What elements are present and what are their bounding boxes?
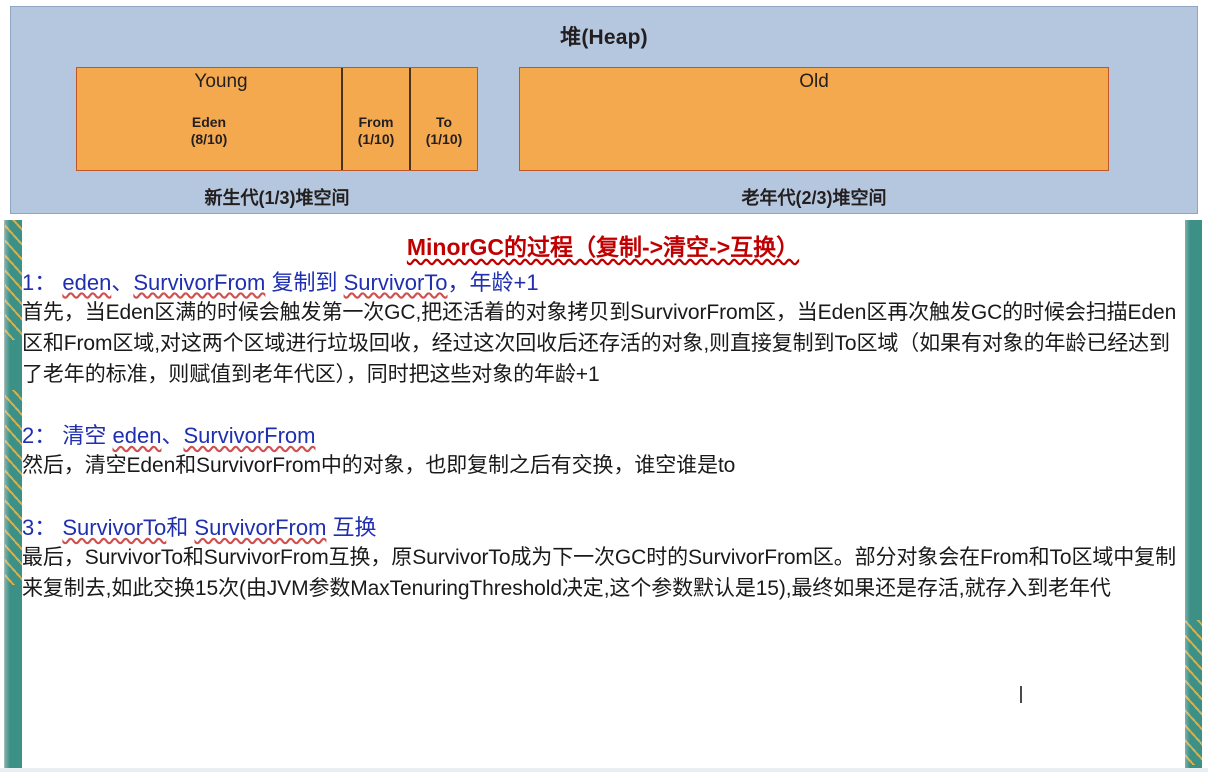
section-2: 2： 清空 eden、SurvivorFrom 然后，清空Eden和Surviv…	[22, 420, 1184, 482]
section-1-term-survivorfrom: SurvivorFrom	[133, 270, 265, 295]
section-3-conjunction: 和	[166, 515, 194, 540]
section-1-mid-text: 复制到	[265, 270, 343, 295]
text-cursor	[1020, 686, 1022, 703]
young-generation-group: Young Eden (8/10) From (1/10) To	[76, 67, 478, 210]
section-2-term-survivorfrom: SurvivorFrom	[183, 423, 315, 448]
left-band-highlight	[5, 220, 10, 772]
section-2-paragraph: 然后，清空Eden和SurvivorFrom中的对象，也即复制之后有交换，谁空谁…	[22, 451, 1184, 482]
heap-title: 堆(Heap)	[11, 21, 1197, 51]
eden-name: Eden	[191, 114, 228, 131]
from-fraction: (1/10)	[358, 131, 395, 148]
article-title: MinorGC的过程（复制->清空->互换）	[22, 232, 1184, 263]
heap-diagram: 堆(Heap) Young Eden (8/10) From (1/10)	[10, 6, 1198, 214]
section-3-number: 3：	[22, 515, 56, 540]
section-3-tail-text: 互换	[326, 515, 376, 540]
old-generation-group: Old 老年代(2/3)堆空间	[519, 67, 1109, 210]
section-2-number: 2：	[22, 423, 56, 448]
section-3-term-survivorto: SurvivorTo	[62, 515, 166, 540]
section-1: 1： eden、SurvivorFrom 复制到 SurvivorTo，年龄+1…	[22, 267, 1184, 390]
old-memory-box: Old	[519, 67, 1109, 171]
section-1-tail-text: ，年龄+1	[448, 270, 539, 295]
section-1-number: 1：	[22, 270, 56, 295]
article-content: MinorGC的过程（复制->清空->互换） 1： eden、SurvivorF…	[22, 222, 1184, 770]
section-2-heading: 2： 清空 eden、SurvivorFrom	[22, 420, 1184, 451]
young-memory-box: Young Eden (8/10) From (1/10) To	[76, 67, 478, 171]
section-3-heading: 3： SurvivorTo和 SurvivorFrom 互换	[22, 512, 1184, 543]
young-generation-caption: 新生代(1/3)堆空间	[76, 184, 478, 210]
section-2-separator: 、	[161, 423, 183, 448]
to-fraction: (1/10)	[426, 131, 463, 148]
document-page: 堆(Heap) Young Eden (8/10) From (1/10)	[0, 0, 1208, 772]
spacer-after-section-2	[22, 482, 1184, 512]
section-2-term-eden: eden	[113, 423, 162, 448]
old-label: Old	[520, 71, 1108, 93]
section-3: 3： SurvivorTo和 SurvivorFrom 互换 最后，Surviv…	[22, 512, 1184, 605]
left-decorative-band	[4, 220, 22, 772]
to-name: To	[426, 114, 463, 131]
to-survivor-segment: To (1/10)	[409, 68, 477, 170]
bottom-strip	[0, 768, 1208, 772]
section-1-separator: 、	[111, 270, 133, 295]
section-1-heading: 1： eden、SurvivorFrom 复制到 SurvivorTo，年龄+1	[22, 267, 1184, 298]
old-generation-caption: 老年代(2/3)堆空间	[519, 184, 1109, 210]
section-3-term-survivorfrom: SurvivorFrom	[194, 515, 326, 540]
section-1-paragraph: 首先，当Eden区满的时候会触发第一次GC,把还活着的对象拷贝到Survivor…	[22, 298, 1184, 390]
spacer-after-section-1	[22, 390, 1184, 420]
young-label: Young	[77, 71, 365, 93]
from-name: From	[358, 114, 395, 131]
section-1-term-eden: eden	[62, 270, 111, 295]
section-1-term-survivorto: SurvivorTo	[344, 270, 448, 295]
section-3-paragraph: 最后，SurvivorTo和SurvivorFrom互换，原SurvivorTo…	[22, 543, 1184, 604]
section-2-verb: 清空	[62, 423, 112, 448]
eden-fraction: (8/10)	[191, 131, 228, 148]
right-band-highlight	[1185, 220, 1190, 772]
right-decorative-band	[1185, 220, 1202, 772]
